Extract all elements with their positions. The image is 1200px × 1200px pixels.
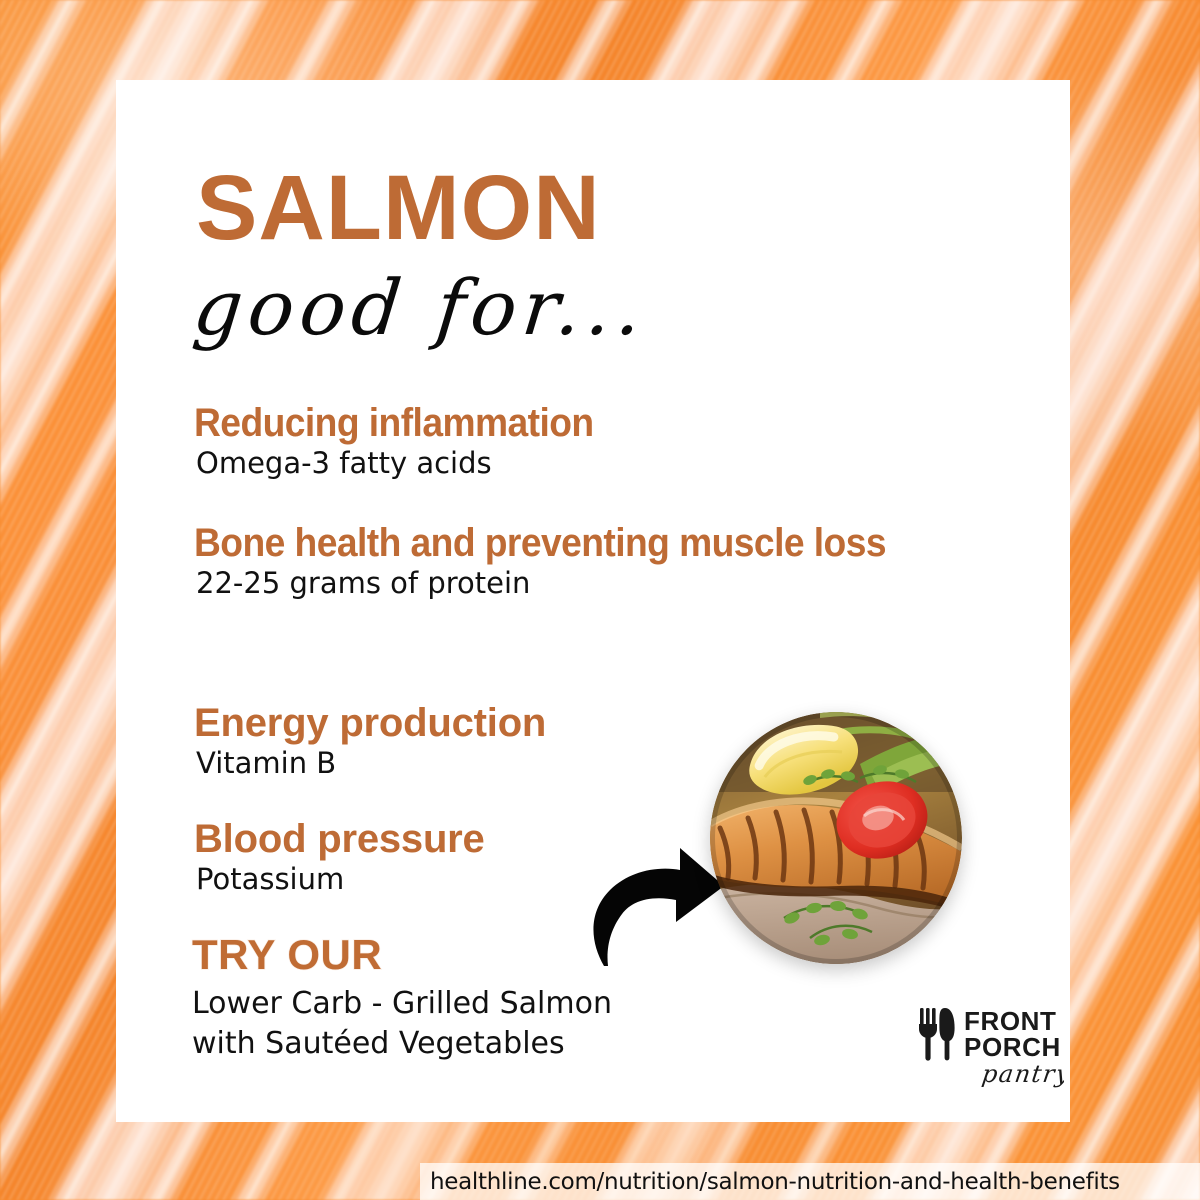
source-url-bar: healthline.com/nutrition/salmon-nutritio… [420,1163,1200,1200]
logo-line-2: PORCH [964,1032,1061,1062]
benefit-heading-1: Reducing inflammation [194,402,919,445]
benefit-sub-2: 22-25 grams of protein [194,567,954,601]
page-title: SALMON [196,162,601,254]
benefit-item-1: Reducing inflammation Omega-3 fatty acid… [194,402,974,481]
benefit-item-2: Bone health and preventing muscle loss 2… [194,522,954,601]
curved-arrow-icon [576,838,726,968]
salmon-dish-photo [710,712,962,964]
cta-line-2: with Sautéed Vegetables [192,1024,752,1064]
page-subtitle-script: good for... [190,270,651,346]
benefit-sub-1: Omega-3 fatty acids [194,447,974,481]
fork-icon [919,1008,937,1061]
brand-logo: FRONT PORCH pantry [916,1004,1064,1094]
content-card: SALMON good for... Reducing inflammation… [116,80,1070,1122]
benefit-item-3: Energy production Vitamin B [194,702,754,781]
source-url-text: healthline.com/nutrition/salmon-nutritio… [420,1169,1120,1195]
benefit-heading-3: Energy production [194,702,754,745]
logo-script: pantry [980,1060,1064,1088]
cta-line-1: Lower Carb - Grilled Salmon [192,984,752,1024]
benefit-sub-3: Vitamin B [194,747,754,781]
benefit-heading-2: Bone health and preventing muscle loss [194,522,901,565]
knife-icon [939,1008,954,1060]
